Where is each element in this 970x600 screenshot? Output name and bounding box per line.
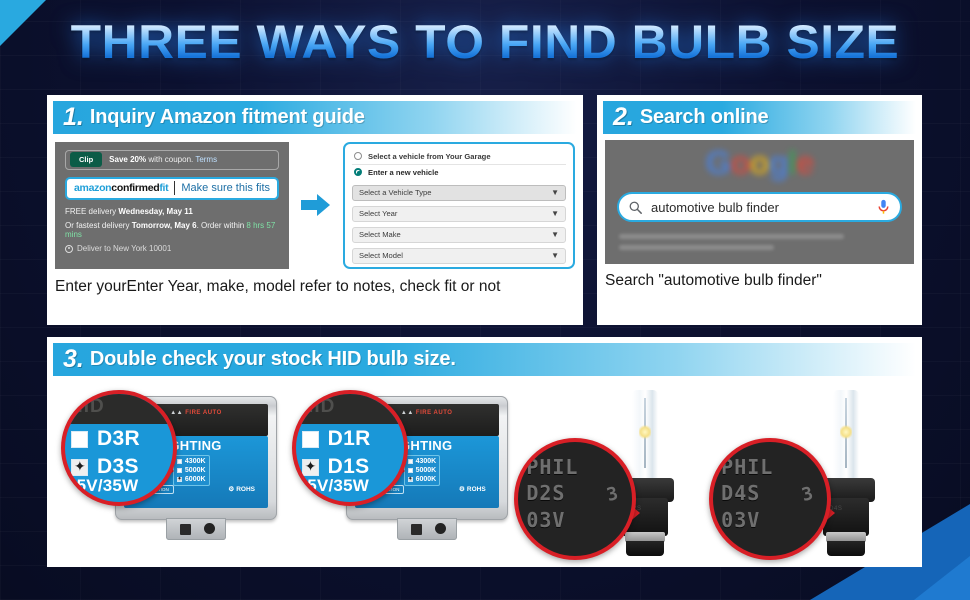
checkbox-icon: [408, 459, 413, 464]
google-logo-letter: e: [796, 144, 813, 181]
product-ballast-d3s: ▲▲ FIRE AUTO HID LIGHTING D3R D3S 45V/35…: [53, 380, 284, 562]
checkbox-checked-icon: [302, 459, 319, 476]
panel-2-number: 2.: [613, 105, 634, 130]
brand-logo: ▲▲ FIRE AUTO: [170, 410, 222, 416]
panel-1-header: 1. Inquiry Amazon fitment guide: [53, 101, 577, 134]
kelvin-option: 4300K: [408, 457, 437, 466]
bulb-cap: [827, 541, 865, 556]
magnifier-row-unchecked: D3R: [71, 427, 169, 451]
kelvin-label: 5000K: [185, 466, 206, 475]
checkbox-icon: [71, 431, 88, 448]
magnifier-zoom-d1s: HID D1R D1S 45V/35W: [292, 390, 408, 506]
panel-double-check-stock-hid-bulb-size: 3. Double check your stock HID bulb size…: [47, 337, 922, 567]
amazon-confirmed-fit-badge: amazonconfirmedfit Make sure this fits: [65, 177, 279, 200]
rohs-label: ROHS: [236, 486, 255, 493]
ballast-connector: [397, 518, 457, 540]
select-vehicle-type-label: Select a Vehicle Type: [359, 188, 431, 197]
kelvin-label: 6000K: [185, 475, 206, 484]
radio-option-garage[interactable]: Select a vehicle from Your Garage: [352, 149, 566, 164]
panel-1-body: Clip Save 20% with coupon. Terms amazonc…: [47, 134, 583, 270]
amazon-confirmed-fit-logo: amazonconfirmedfit: [74, 182, 168, 194]
bulb-arc-glow: [840, 424, 852, 440]
deliver-to-text: Deliver to New York 10001: [77, 244, 171, 253]
checkbox-icon: [177, 468, 182, 473]
rohs-badge: ⚙ROHS: [228, 485, 255, 493]
rohs-label: ROHS: [467, 486, 486, 493]
magnifier-code-unchecked: D1R: [328, 427, 371, 451]
radio-option-new-vehicle[interactable]: Enter a new vehicle: [352, 164, 566, 180]
select-make-label: Select Make: [359, 230, 401, 239]
free-delivery-prefix: FREE delivery: [65, 207, 118, 216]
chevron-down-icon: ▼: [551, 189, 559, 197]
kelvin-option: 5000K: [177, 466, 206, 475]
select-model[interactable]: Select Model ▼: [352, 248, 566, 264]
right-arrow-icon: [299, 193, 333, 217]
kelvin-label: 6000K: [416, 475, 437, 484]
fastest-suffix: . Order within: [197, 221, 247, 230]
kelvin-options: 4300K 5000K 6000K: [404, 455, 441, 486]
free-delivery-date: Wednesday, May 11: [118, 207, 192, 216]
panel-2-caption: Search "automotive bulb finder": [597, 272, 922, 289]
location-pin-icon: [65, 245, 73, 253]
ballast-connector: [166, 518, 226, 540]
kelvin-option: 4300K: [177, 457, 206, 466]
checkbox-checked-icon: [71, 459, 88, 476]
panel-3-products: ▲▲ FIRE AUTO HID LIGHTING D3R D3S 45V/35…: [47, 376, 922, 562]
google-search-screenshot: Google automotive bulb finder: [605, 140, 914, 264]
google-logo: Google: [605, 144, 914, 182]
divider: [174, 181, 175, 195]
magnifier-side-digit: 3: [800, 483, 816, 506]
product-bulb-d4s: D4S PHILD4S03V 3: [715, 380, 916, 562]
magnifier-dark-band: HID: [296, 394, 404, 424]
select-model-label: Select Model: [359, 251, 403, 260]
panel-3-number: 3.: [63, 347, 84, 372]
kelvin-label: 4300K: [185, 457, 206, 466]
magnifier-line-2: D4S: [721, 481, 760, 505]
brand-name: FIRE AUTO: [416, 410, 453, 416]
amazon-word: amazon: [74, 182, 111, 194]
free-delivery-line: FREE delivery Wednesday, May 11: [65, 207, 279, 216]
magnifier-line-3: 03V: [721, 508, 760, 532]
kelvin-option-selected: 6000K: [408, 475, 437, 484]
magnifier-voltage: 45V/35W: [67, 476, 138, 496]
coupon-terms-link[interactable]: Terms: [195, 155, 217, 164]
kelvin-option-selected: 6000K: [177, 475, 206, 484]
blur-line: [619, 234, 844, 239]
checkbox-icon: [177, 459, 182, 464]
fastest-date: Tomorrow, May 6: [132, 221, 197, 230]
panel-2-title: Search online: [640, 106, 769, 129]
magnifier-zoom-d3s: HID D3R D3S 45V/35W: [61, 390, 177, 506]
magnifier-dark-band: HID: [65, 394, 173, 424]
fit-word: fit: [159, 182, 168, 194]
google-logo-letter: o: [730, 144, 749, 181]
kelvin-options: 4300K 5000K 6000K: [173, 455, 210, 486]
magnifier-row-unchecked: D1R: [302, 427, 400, 451]
search-icon: [629, 201, 642, 214]
magnifier-rows: D1R D1S: [302, 427, 400, 483]
corner-accent-bottom-right-secondary: [914, 556, 970, 600]
magnifier-side-digit: 3: [605, 483, 621, 506]
fastest-prefix: Or fastest delivery: [65, 221, 132, 230]
confirmed-word: confirmed: [111, 182, 159, 194]
magnifier-line-1: PHIL: [526, 455, 578, 479]
coupon-row[interactable]: Clip Save 20% with coupon. Terms: [65, 150, 279, 170]
radio-selected-icon: [354, 168, 362, 176]
fastest-delivery-line: Or fastest delivery Tomorrow, May 6. Ord…: [65, 221, 279, 239]
brand-name: FIRE AUTO: [185, 410, 222, 416]
page-title: THREE WAYS TO FIND BULB SIZE: [0, 14, 970, 69]
magnifier-voltage: 45V/35W: [298, 476, 369, 496]
radio-unselected-icon: [354, 152, 362, 160]
panel-1-caption: Enter yourEnter Year, make, model refer …: [47, 278, 583, 295]
magnifier-bulb-print: PHILD4S03V: [721, 454, 773, 533]
amazon-listing-screenshot: Clip Save 20% with coupon. Terms amazonc…: [55, 142, 289, 269]
kelvin-label: 4300K: [416, 457, 437, 466]
select-make[interactable]: Select Make ▼: [352, 227, 566, 243]
coupon-rest: with coupon.: [146, 155, 195, 164]
google-logo-letter: g: [769, 144, 788, 181]
bulb-arc-glow: [639, 424, 651, 440]
coupon-discount: Save 20%: [109, 155, 146, 164]
magnifier-zoom-bulb-d2s: PHILD2S03V 3: [514, 438, 636, 560]
magnifier-partial-text: HID: [69, 396, 105, 418]
panel-2-header: 2. Search online: [603, 101, 916, 134]
checkbox-checked-icon: [408, 477, 413, 482]
google-logo-letter: l: [788, 144, 796, 181]
magnifier-line-3: 03V: [526, 508, 565, 532]
chevron-down-icon: ▼: [551, 231, 559, 239]
bulb-cap: [626, 541, 664, 556]
magnifier-code-unchecked: D3R: [97, 427, 140, 451]
microphone-icon[interactable]: [877, 199, 890, 215]
radio-new-vehicle-label: Enter a new vehicle: [368, 168, 438, 177]
google-logo-letter: o: [749, 144, 768, 181]
kelvin-option: 5000K: [408, 466, 437, 475]
deliver-to-row[interactable]: Deliver to New York 10001: [65, 244, 279, 253]
panel-3-header: 3. Double check your stock HID bulb size…: [53, 343, 916, 376]
kelvin-label: 5000K: [416, 466, 437, 475]
product-bulb-d2s: D2S PHILD2S03V 3: [514, 380, 715, 562]
panel-1-title: Inquiry Amazon fitment guide: [90, 106, 365, 129]
select-vehicle-type[interactable]: Select a Vehicle Type ▼: [352, 185, 566, 201]
panel-1-number: 1.: [63, 105, 84, 130]
panel-search-online: 2. Search online Google automotive bulb …: [597, 95, 922, 325]
blurred-results: [619, 234, 900, 256]
brand-logo: ▲▲ FIRE AUTO: [401, 410, 453, 416]
chevron-down-icon: ▼: [551, 210, 559, 218]
coupon-text: Save 20% with coupon. Terms: [109, 155, 217, 164]
product-ballast-d1s: ▲▲ FIRE AUTO HID LIGHTING D1R D1S 45V/35…: [284, 380, 515, 562]
magnifier-line-2: D2S: [526, 481, 565, 505]
clip-coupon-button[interactable]: Clip: [70, 152, 102, 167]
checkbox-icon: [408, 468, 413, 473]
checkbox-checked-icon: [177, 477, 182, 482]
chevron-down-icon: ▼: [551, 252, 559, 260]
panel-inquiry-amazon-fitment-guide: 1. Inquiry Amazon fitment guide Clip Sav…: [47, 95, 583, 325]
magnifier-zoom-bulb-d4s: PHILD4S03V 3: [709, 438, 831, 560]
select-year-label: Select Year: [359, 209, 397, 218]
search-bar[interactable]: automotive bulb finder: [617, 192, 902, 222]
search-input[interactable]: automotive bulb finder: [651, 200, 868, 215]
select-year[interactable]: Select Year ▼: [352, 206, 566, 222]
panel-3-title: Double check your stock HID bulb size.: [90, 348, 456, 371]
blur-line: [619, 245, 774, 250]
magnifier-rows: D3R D3S: [71, 427, 169, 483]
magnifier-bulb-print: PHILD2S03V: [526, 454, 578, 533]
checkbox-icon: [302, 431, 319, 448]
make-sure-this-fits-text: Make sure this fits: [181, 182, 270, 194]
magnifier-partial-text: HID: [300, 396, 336, 418]
rohs-badge: ⚙ROHS: [459, 485, 486, 493]
vehicle-selector-panel: Select a vehicle from Your Garage Enter …: [343, 142, 575, 269]
google-logo-letter: G: [706, 144, 731, 181]
radio-garage-label: Select a vehicle from Your Garage: [368, 152, 491, 161]
magnifier-line-1: PHIL: [721, 455, 773, 479]
